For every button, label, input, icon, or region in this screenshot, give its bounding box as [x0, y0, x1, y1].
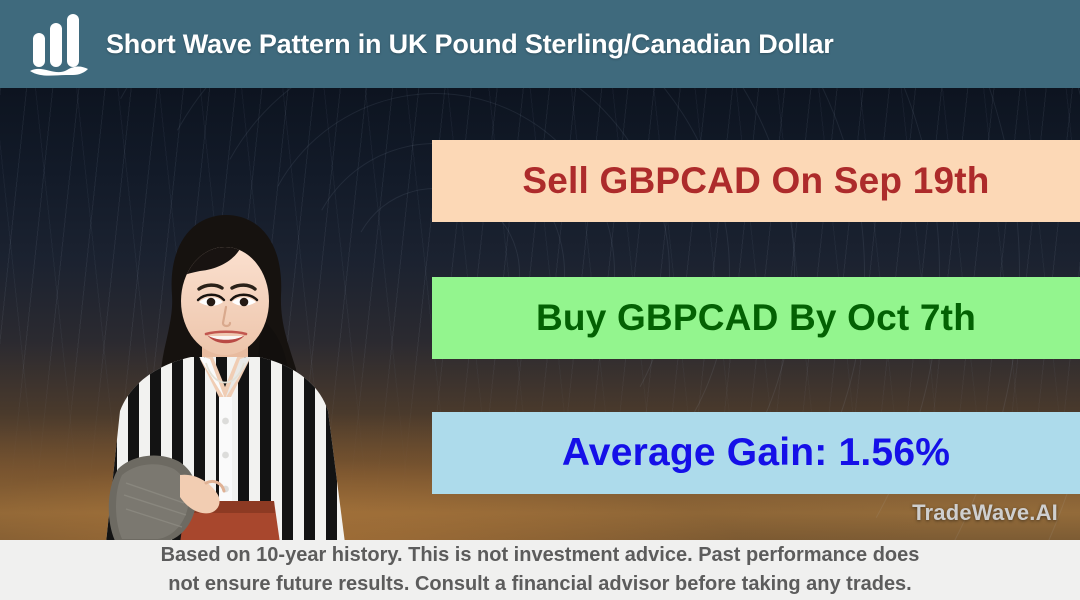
- signal-banner-buy-text: Buy GBPCAD By Oct 7th: [536, 297, 976, 339]
- signal-banner-average-gain-text: Average Gain: 1.56%: [562, 431, 950, 475]
- disclaimer-line-1: Based on 10-year history. This is not in…: [161, 541, 920, 570]
- signal-banner-sell: Sell GBPCAD On Sep 19th: [432, 140, 1080, 222]
- presenter-photo: [60, 183, 390, 540]
- signal-card: Short Wave Pattern in UK Pound Sterling/…: [0, 0, 1080, 600]
- brand-watermark: TradeWave.AI: [912, 500, 1058, 526]
- disclaimer-bar: Based on 10-year history. This is not in…: [0, 540, 1080, 600]
- signal-banner-average-gain: Average Gain: 1.56%: [432, 412, 1080, 494]
- disclaimer-line-2: not ensure future results. Consult a fin…: [168, 570, 912, 599]
- signal-banner-buy: Buy GBPCAD By Oct 7th: [432, 277, 1080, 359]
- tradewave-bars-wave-logo-icon: [22, 8, 98, 80]
- page-title: Short Wave Pattern in UK Pound Sterling/…: [106, 29, 834, 60]
- signal-banner-sell-text: Sell GBPCAD On Sep 19th: [522, 160, 989, 202]
- header-bar: Short Wave Pattern in UK Pound Sterling/…: [0, 0, 1080, 88]
